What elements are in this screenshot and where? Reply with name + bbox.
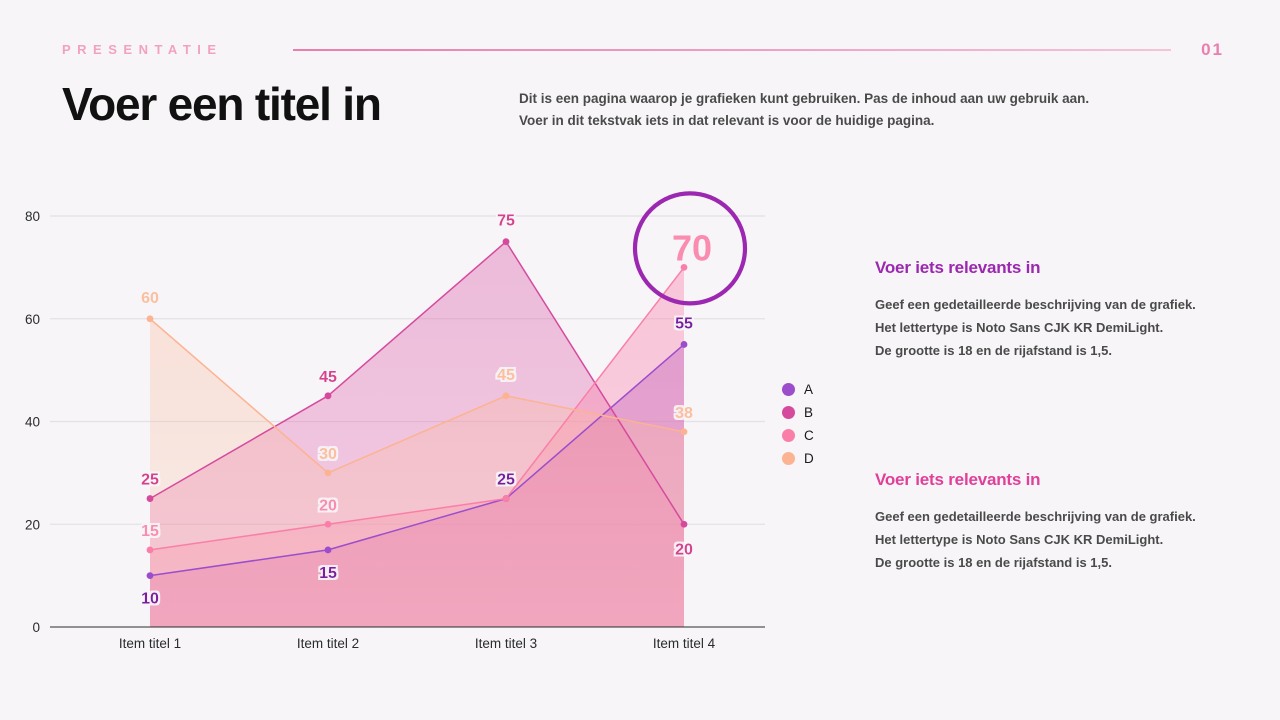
- legend-label-a: A: [804, 383, 813, 397]
- side-note-1: Voer iets relevants in Geef een gedetail…: [875, 258, 1235, 362]
- legend-swatch-d-icon: [782, 452, 795, 465]
- legend-label-c: C: [804, 429, 814, 443]
- highlight-value: 70: [672, 227, 712, 268]
- point-label-a-3: 55: [675, 315, 693, 332]
- legend-item-a[interactable]: A: [782, 378, 814, 401]
- legend-item-d[interactable]: D: [782, 447, 814, 470]
- side-note-1-title: Voer iets relevants in: [875, 258, 1235, 278]
- y-tick-label: 80: [25, 209, 40, 224]
- intro-line-2: Voer in dit tekstvak iets in dat relevan…: [519, 110, 1179, 132]
- header-bar: PRESENTATIE 01: [0, 0, 1280, 70]
- side-note-2-line-2: Het lettertype is Noto Sans CJK KR DemiL…: [875, 529, 1235, 552]
- legend-swatch-b-icon: [782, 406, 795, 419]
- side-note-2: Voer iets relevants in Geef een gedetail…: [875, 470, 1235, 574]
- x-tick-label-1: Item titel 2: [297, 636, 359, 651]
- side-note-2-body: Geef een gedetailleerde beschrijving van…: [875, 506, 1235, 574]
- side-note-2-line-1: Geef een gedetailleerde beschrijving van…: [875, 506, 1235, 529]
- side-note-2-line-3: De grootte is 18 en de rijafstand is 1,5…: [875, 552, 1235, 575]
- y-tick-label: 40: [25, 415, 40, 430]
- x-tick-label-0: Item titel 1: [119, 636, 181, 651]
- chart-y-tick-labels: 020406080: [25, 209, 40, 635]
- legend-label-d: D: [804, 452, 814, 466]
- point-d-1[interactable]: [325, 469, 332, 476]
- legend-swatch-c-icon: [782, 429, 795, 442]
- y-tick-label: 0: [32, 620, 40, 635]
- point-d-3[interactable]: [681, 428, 688, 435]
- point-label-a-2: 25: [497, 472, 515, 489]
- point-label-b-1: 45: [319, 369, 337, 386]
- point-label-b-3: 20: [675, 541, 693, 558]
- x-tick-label-3: Item titel 4: [653, 636, 716, 651]
- point-b-0[interactable]: [147, 495, 154, 502]
- area-chart: 020406080 1015255525457520152060304538 7…: [0, 180, 860, 680]
- legend-item-b[interactable]: B: [782, 401, 814, 424]
- point-b-2[interactable]: [503, 238, 510, 245]
- legend-swatch-a-icon: [782, 383, 795, 396]
- point-label-d-1: 30: [319, 446, 337, 463]
- point-label-d-2: 45: [497, 367, 515, 384]
- chart-legend: ABCD: [782, 378, 814, 470]
- chart-x-tick-labels: Item titel 1Item titel 2Item titel 3Item…: [119, 636, 716, 651]
- point-d-2[interactable]: [503, 392, 510, 399]
- point-b-1[interactable]: [325, 392, 332, 399]
- point-label-c-1: 20: [319, 497, 337, 514]
- point-label-b-2: 75: [497, 213, 515, 230]
- point-a-0[interactable]: [147, 572, 154, 579]
- point-d-0[interactable]: [147, 315, 154, 322]
- point-label-d-0: 60: [141, 290, 159, 307]
- side-note-1-body: Geef een gedetailleerde beschrijving van…: [875, 294, 1235, 362]
- x-tick-label-2: Item titel 3: [475, 636, 537, 651]
- side-note-1-line-3: De grootte is 18 en de rijafstand is 1,5…: [875, 340, 1235, 363]
- point-label-a-0: 10: [141, 591, 159, 608]
- side-note-1-line-1: Geef een gedetailleerde beschrijving van…: [875, 294, 1235, 317]
- header-divider-rule: [293, 49, 1171, 51]
- point-label-d-3: 38: [675, 405, 693, 422]
- point-c-0[interactable]: [147, 547, 154, 554]
- side-note-2-title: Voer iets relevants in: [875, 470, 1235, 490]
- y-tick-label: 60: [25, 312, 40, 327]
- y-tick-label: 20: [25, 517, 40, 532]
- intro-line-1: Dit is een pagina waarop je grafieken ku…: [519, 88, 1179, 110]
- point-label-c-0: 15: [141, 523, 159, 540]
- legend-item-c[interactable]: C: [782, 424, 814, 447]
- page-title: Voer een titel in: [62, 78, 381, 131]
- point-a-1[interactable]: [325, 547, 332, 554]
- intro-paragraph: Dit is een pagina waarop je grafieken ku…: [519, 88, 1179, 133]
- point-label-b-0: 25: [141, 472, 159, 489]
- side-note-1-line-2: Het lettertype is Noto Sans CJK KR DemiL…: [875, 317, 1235, 340]
- legend-label-b: B: [804, 406, 813, 420]
- point-c-2[interactable]: [503, 495, 510, 502]
- chart-region: 020406080 1015255525457520152060304538 7…: [0, 180, 860, 680]
- page-number: 01: [1201, 40, 1224, 60]
- eyebrow-label: PRESENTATIE: [62, 42, 223, 57]
- point-b-3[interactable]: [681, 521, 688, 528]
- chart-highlight-annotation: 70: [635, 193, 745, 303]
- point-a-3[interactable]: [681, 341, 688, 348]
- point-c-1[interactable]: [325, 521, 332, 528]
- point-label-a-1: 15: [319, 565, 337, 582]
